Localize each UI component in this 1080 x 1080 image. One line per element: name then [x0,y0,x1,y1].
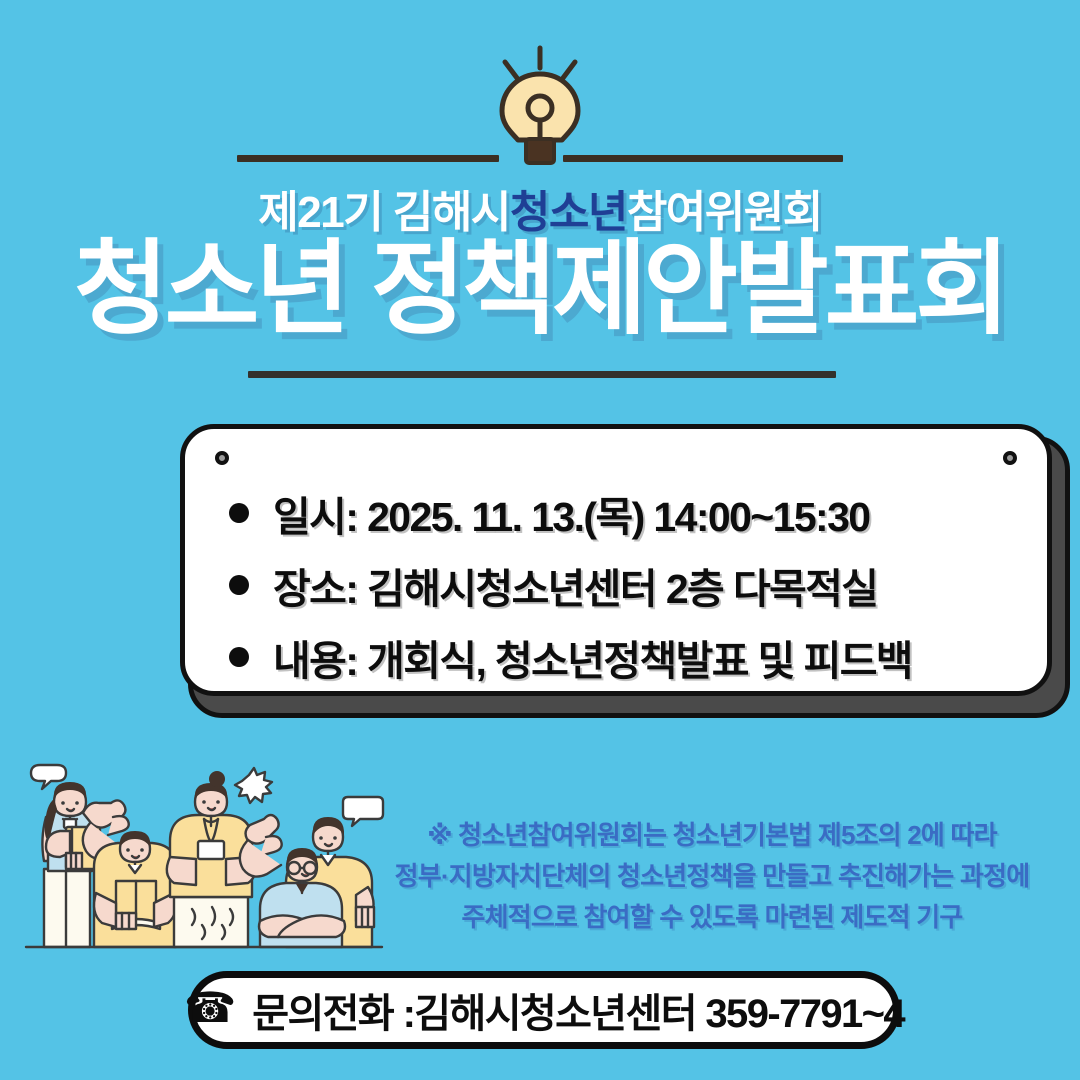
list-item: 내용: 개회식, 청소년정책발표 및 피드백 [229,621,1017,693]
info-list: 일시: 2025. 11. 13.(목) 14:00~15:30 장소: 김해시… [229,477,1017,693]
subtitle-accent: 청소년 [510,188,627,237]
contact-text: 문의전화 :김해시청소년센터 359-7791~4 [252,981,904,1039]
list-item-label: 일시: 2025. 11. 13.(목) 14:00~15:30 [273,483,869,543]
header-rule-left [237,155,499,162]
list-item: 일시: 2025. 11. 13.(목) 14:00~15:30 [229,477,1017,549]
list-item-label: 내용: 개회식, 청소년정책발표 및 피드백 [273,627,912,687]
footnote-line-3: 주체적으로 참여할 수 있도록 마련된 제도적 기구 [392,897,1032,938]
page-title: 청소년 정책제안발표회 [0,234,1080,343]
contact-pill[interactable]: ☎ 문의전화 :김해시청소년센터 359-7791~4 [188,971,900,1049]
youth-group-illustration [16,757,388,962]
bullet-icon [229,647,249,667]
footnote-line-2: 정부·지방자치단체의 청소년정책을 만들고 추진해가는 과정에 [392,856,1032,897]
speech-bubble-icon-2 [235,768,272,803]
header-rule-right [563,155,843,162]
footnote-line-1: ※ 청소년참여위원회는 청소년기본법 제5조의 2에 따라 [392,815,1032,856]
footnote: ※ 청소년참여위원회는 청소년기본법 제5조의 2에 따라 정부·지방자치단체의… [392,815,1032,938]
screw-icon-right [1003,451,1017,465]
subtitle-prefix: 제21기 김해시 [258,188,510,237]
lightbulb-icon-wrap [0,40,1080,170]
poster-canvas: 제21기 김해시청소년참여위원회 청소년 정책제안발표회 일시: 2025. 1… [0,0,1080,1080]
screw-icon-left [215,451,229,465]
speech-bubble-icon-3 [343,797,383,826]
person-figure-2 [94,831,176,947]
bullet-icon [229,503,249,523]
title-underline-rule [248,371,836,378]
info-card: 일시: 2025. 11. 13.(목) 14:00~15:30 장소: 김해시… [180,424,1052,696]
list-item: 장소: 김해시청소년센터 2층 다목적실 [229,549,1017,621]
list-item-label: 장소: 김해시청소년센터 2층 다목적실 [273,555,877,615]
telephone-icon: ☎ [184,987,236,1029]
lightbulb-icon [470,40,610,170]
bullet-icon [229,575,249,595]
subtitle-suffix: 참여위원회 [627,188,822,237]
